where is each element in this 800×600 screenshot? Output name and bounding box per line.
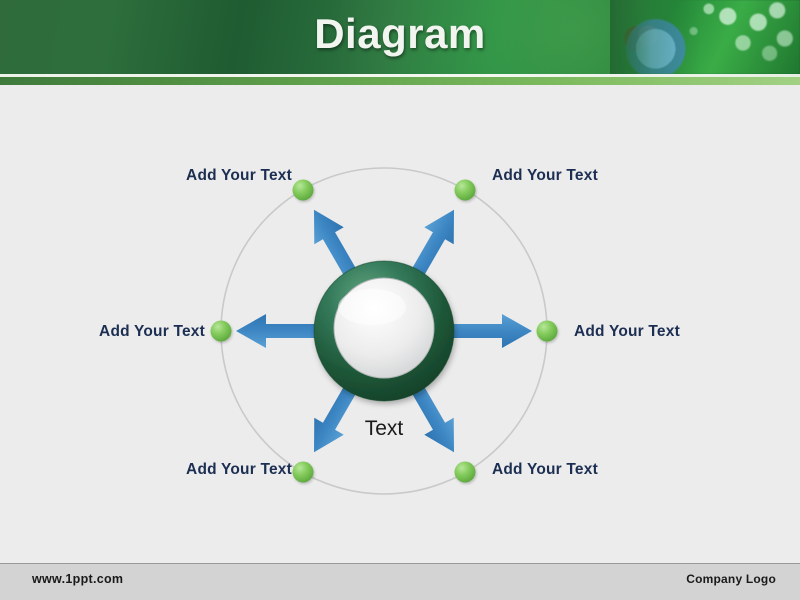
node-dot-bottom-right[interactable] — [455, 462, 476, 483]
footer-company-logo: Company Logo — [686, 572, 776, 586]
radial-diagram-svg — [0, 85, 800, 555]
node-label-middle-left[interactable]: Add Your Text — [0, 323, 205, 341]
node-dot-top-right[interactable] — [455, 180, 476, 201]
slide-header: Diagram — [0, 0, 800, 74]
slide: Diagram — [0, 0, 800, 600]
node-label-top-left[interactable]: Add Your Text — [0, 167, 292, 185]
node-label-top-right[interactable]: Add Your Text — [492, 167, 598, 185]
arrow-middle-right[interactable] — [452, 314, 532, 348]
node-dot-bottom-left[interactable] — [293, 462, 314, 483]
node-dot-top-left[interactable] — [293, 180, 314, 201]
center-node[interactable] — [314, 261, 454, 401]
node-label-bottom-right[interactable]: Add Your Text — [492, 461, 598, 479]
footer-website-link[interactable]: www.1ppt.com — [32, 572, 123, 586]
header-divider-green — [0, 77, 800, 85]
page-title: Diagram — [0, 10, 800, 58]
arrow-middle-left[interactable] — [236, 314, 316, 348]
node-dot-middle-left[interactable] — [211, 321, 232, 342]
diagram-stage: Text Add Your Text Add Your Text Add You… — [0, 85, 800, 555]
center-node-label: Text — [324, 417, 444, 441]
node-label-bottom-left[interactable]: Add Your Text — [0, 461, 292, 479]
node-label-middle-right[interactable]: Add Your Text — [574, 323, 680, 341]
node-dot-middle-right[interactable] — [537, 321, 558, 342]
